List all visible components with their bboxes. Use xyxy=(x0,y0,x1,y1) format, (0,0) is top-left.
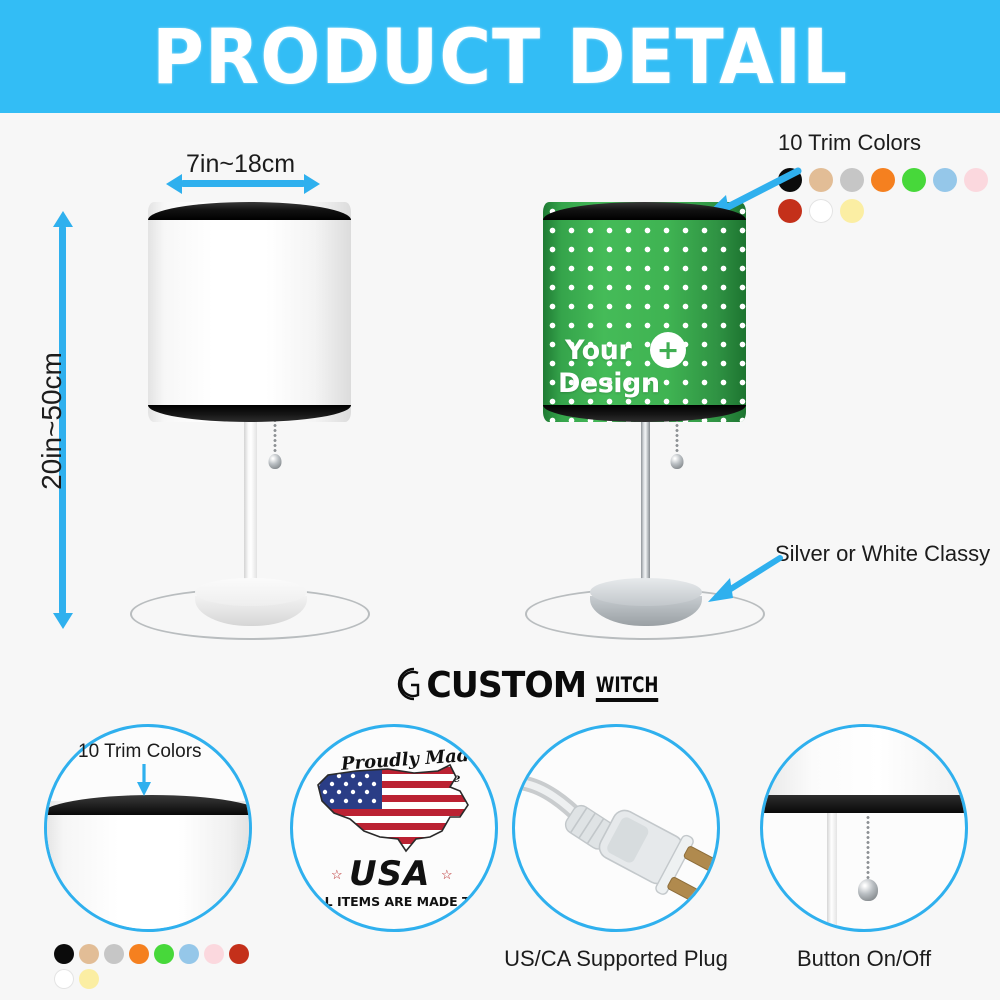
chain-knob xyxy=(268,454,281,469)
feature-plug-circle xyxy=(512,724,720,932)
logo-secondary-text: WITCH xyxy=(595,675,658,702)
usa-subtitle: ALL ITEMS ARE MADE TO ORDER! xyxy=(307,894,498,909)
trim-swatch-green[interactable] xyxy=(154,944,174,964)
base-top xyxy=(195,578,307,606)
trim-swatch-yellow[interactable] xyxy=(79,969,99,989)
product-detail-page: PRODUCT DETAIL 7in~18cm 20in~50cm xyxy=(0,0,1000,1000)
trim-swatch-white[interactable] xyxy=(809,199,833,223)
lamp-base-silver xyxy=(590,578,702,626)
pull-chain xyxy=(670,418,683,458)
shade-surface xyxy=(148,202,351,422)
lampshade-white xyxy=(148,202,351,422)
trim-swatch-orange[interactable] xyxy=(871,168,895,192)
chain-line xyxy=(675,418,678,458)
feature-trim-colors-caption: 10 Trim Colors xyxy=(78,741,202,763)
trim-swatch-orange[interactable] xyxy=(129,944,149,964)
trim-swatch-pink[interactable] xyxy=(964,168,988,192)
feature-plug-caption: US/CA Supported Plug xyxy=(496,946,736,972)
feature-made-in-usa-circle: Proudly Made in the xyxy=(290,724,498,932)
lamp-base-white xyxy=(195,578,307,626)
feature-switch-circle xyxy=(760,724,968,932)
width-dimension-arrow xyxy=(180,180,306,187)
add-design-icon[interactable]: + xyxy=(650,332,686,368)
lamp-white xyxy=(120,190,380,650)
width-dimension-label: 7in~18cm xyxy=(186,150,295,179)
page-title: PRODUCT DETAIL xyxy=(152,12,848,101)
trim-swatch-tan[interactable] xyxy=(809,168,833,192)
trim-swatch-red[interactable] xyxy=(229,944,249,964)
pull-chain xyxy=(861,815,874,885)
usa-map-flag-icon xyxy=(310,761,485,856)
trim-swatch-white[interactable] xyxy=(54,969,74,989)
feature-switch-caption: Button On/Off xyxy=(744,946,984,972)
usa-title: USA xyxy=(349,854,430,894)
design-line-2: Design xyxy=(558,368,660,399)
header-banner: PRODUCT DETAIL xyxy=(0,0,1000,113)
trim-colors-swatch-row-bottom xyxy=(54,944,250,989)
trim-colors-callout-label: 10 Trim Colors xyxy=(778,130,921,156)
shade-surface xyxy=(760,724,968,801)
height-dimension-label: 20in~50cm xyxy=(36,336,68,506)
trim-swatch-pink[interactable] xyxy=(204,944,224,964)
chain-knob xyxy=(858,879,878,901)
base-top xyxy=(590,578,702,606)
star-left-icon: ☆ xyxy=(331,867,343,883)
chain-line xyxy=(866,815,869,885)
trim-swatch-gray[interactable] xyxy=(840,168,864,192)
power-plug-icon xyxy=(521,765,717,905)
lamp-pole-white xyxy=(244,415,257,600)
logo-primary-text: CUSTOM xyxy=(426,668,586,704)
pull-chain xyxy=(268,418,281,458)
trim-swatch-light-blue[interactable] xyxy=(179,944,199,964)
lamp-pole xyxy=(827,813,837,932)
chain-line xyxy=(273,418,276,458)
trim-swatch-yellow[interactable] xyxy=(840,199,864,223)
star-right-icon: ☆ xyxy=(441,867,453,883)
trim-swatch-gray[interactable] xyxy=(104,944,124,964)
trim-swatch-tan[interactable] xyxy=(79,944,99,964)
base-finish-label: Silver or White Classy xyxy=(775,541,990,567)
trim-colors-swatch-row-top xyxy=(778,168,1000,223)
trim-top-black xyxy=(44,795,252,815)
trim-swatch-black[interactable] xyxy=(54,944,74,964)
lampshade-green: Your + Design xyxy=(543,202,746,422)
logo-c-icon xyxy=(392,665,426,703)
shade-surface xyxy=(44,801,252,932)
trim-bottom-black xyxy=(760,795,968,813)
design-line-1: Your xyxy=(565,335,631,366)
trim-swatch-green[interactable] xyxy=(902,168,926,192)
trim-swatch-light-blue[interactable] xyxy=(933,168,957,192)
lamp-pole-silver xyxy=(641,415,650,600)
brand-logo: CUSTOM WITCH xyxy=(392,665,666,704)
base-finish-arrow xyxy=(700,552,786,608)
chain-knob xyxy=(670,454,683,469)
trim-colors-down-arrow xyxy=(132,762,156,798)
